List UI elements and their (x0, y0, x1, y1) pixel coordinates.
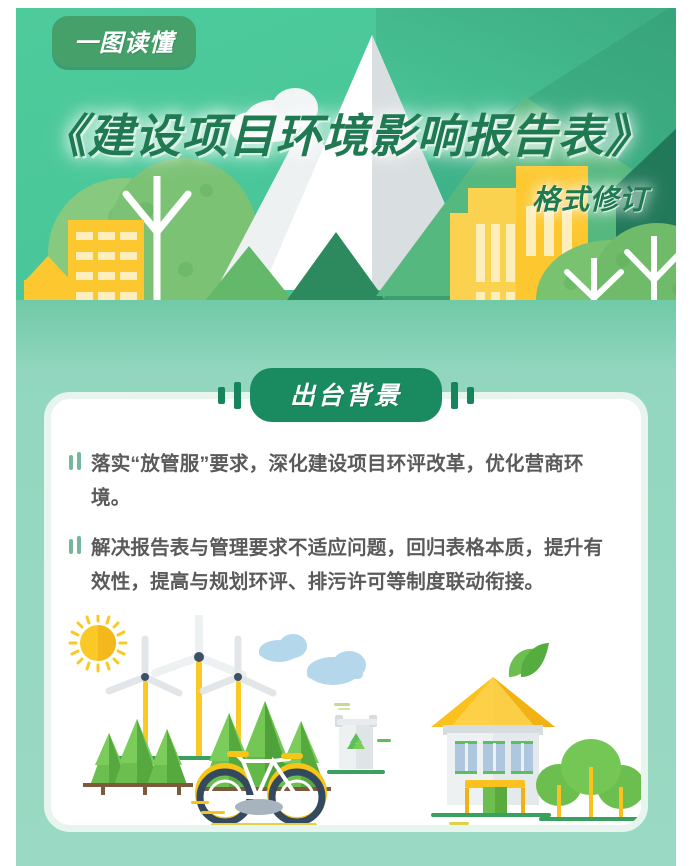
page-title: 《建设项目环境影响报告表》 (0, 100, 692, 166)
infographic-page: 一图读懂 《建设项目环境影响报告表》 格式修订 落实“放管服”要求，深化建设项目… (0, 0, 692, 866)
building-roof (24, 256, 72, 282)
tick-mark-icon (234, 382, 241, 409)
bullet-list: 落实“放管服”要求，深化建设项目环评改革，优化营商环境。 解决报告表与管理要求不… (65, 447, 619, 615)
body-background-fade (16, 300, 676, 370)
page-subtitle-text: 格式修订 (532, 184, 648, 215)
section-title-pill: 出台背景 (250, 368, 442, 422)
page-title-text: 《建设项目环境影响报告表》 (41, 100, 652, 166)
cloud-icon (259, 634, 307, 662)
cloud-icon (307, 651, 366, 685)
house-icon (431, 643, 555, 825)
badge-label: 一图读懂 (74, 23, 174, 58)
read-in-one-picture-badge: 一图读懂 (52, 16, 196, 67)
section-header: 出台背景 (0, 368, 692, 422)
tick-mark-icon (451, 382, 458, 409)
bottom-strip (16, 854, 676, 866)
background-section-card: 落实“放管服”要求，深化建设项目环评改革，优化营商环境。 解决报告表与管理要求不… (44, 392, 648, 832)
tick-mark-icon (218, 387, 225, 404)
section-title-text: 出台背景 (290, 382, 402, 410)
double-bar-bullet-icon (65, 452, 87, 474)
tick-mark-icon (467, 387, 474, 404)
page-subtitle: 格式修订 (532, 178, 648, 218)
double-bar-bullet-icon (65, 536, 87, 558)
eco-illustration (51, 615, 641, 825)
sun-icon (70, 615, 126, 671)
list-item: 落实“放管服”要求，深化建设项目环评改革，优化营商环境。 (65, 447, 619, 515)
bullet-text: 解决报告表与管理要求不适应问题，回归表格本质，提升有效性，提高与规划环评、排污许… (91, 531, 619, 599)
list-item: 解决报告表与管理要求不适应问题，回归表格本质，提升有效性，提高与规划环评、排污许… (65, 531, 619, 599)
recycle-bin-icon (327, 703, 391, 774)
bullet-text: 落实“放管服”要求，深化建设项目环评改革，优化营商环境。 (91, 447, 619, 515)
